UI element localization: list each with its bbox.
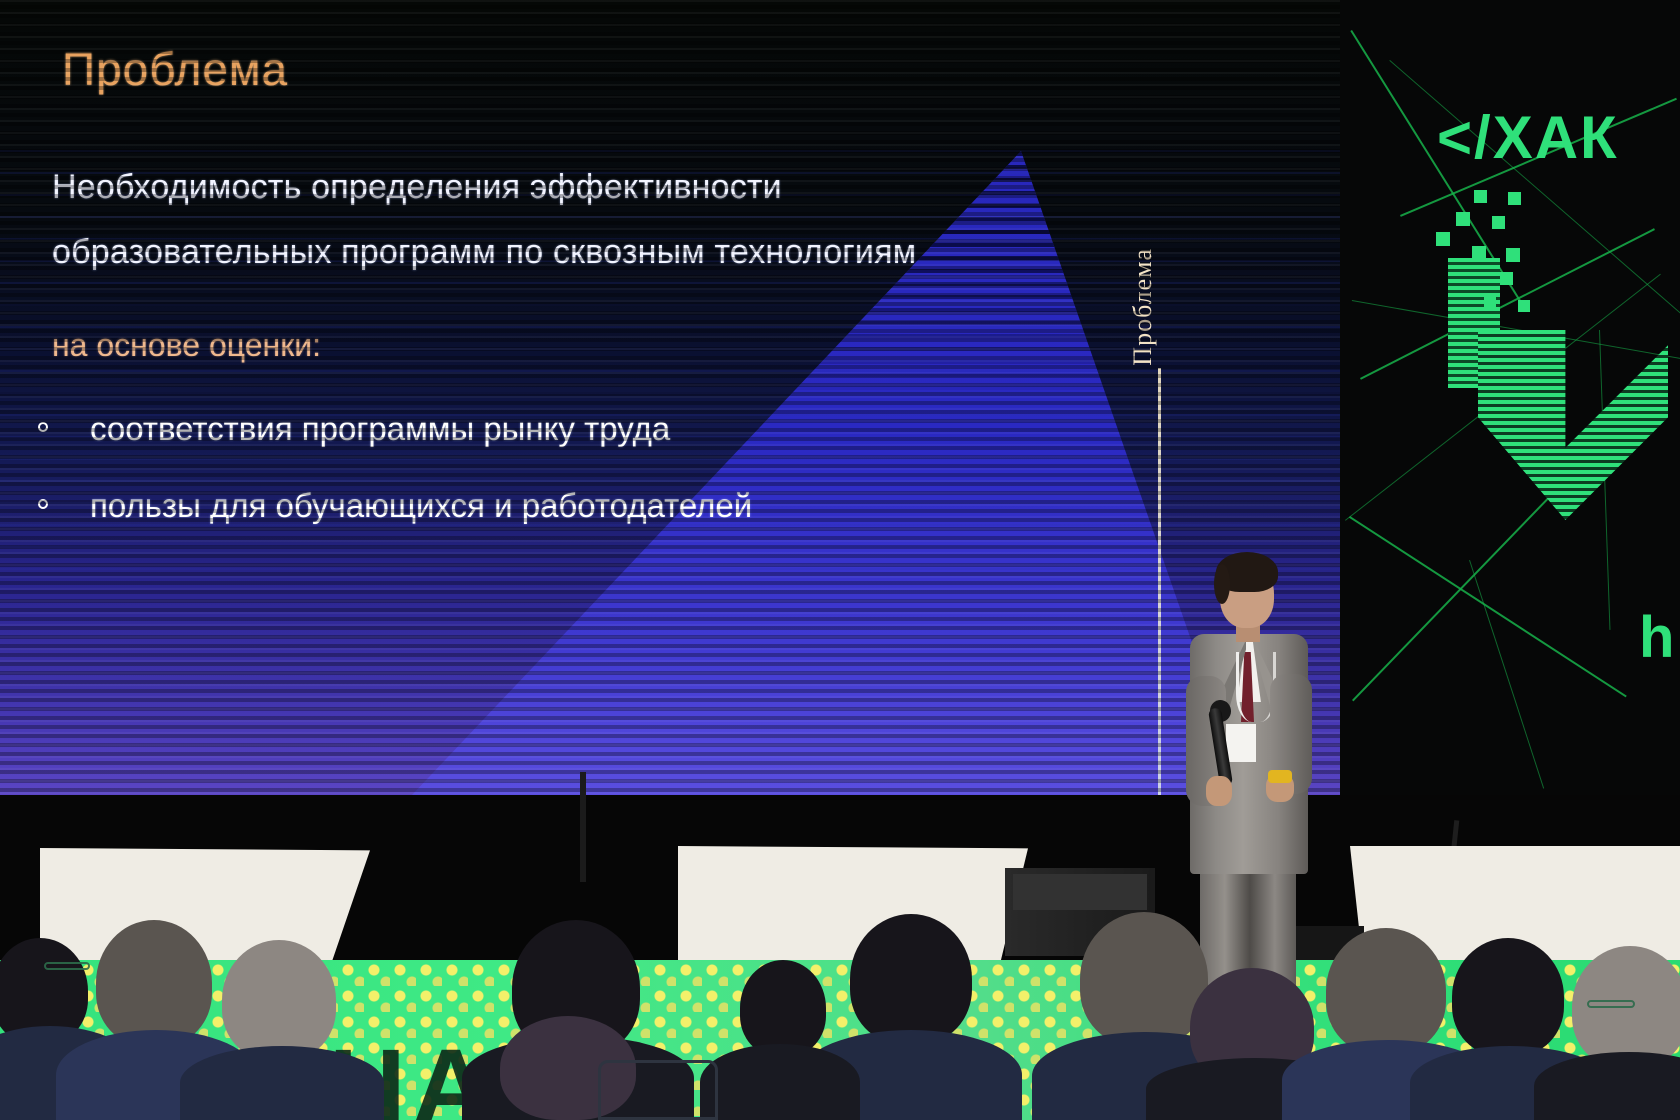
backdrop-green-line <box>1469 560 1544 789</box>
audience-shoulders <box>700 1044 860 1120</box>
slide-pyramid-steps <box>0 0 1340 795</box>
hackathon-logo-chevron <box>1478 330 1668 520</box>
presenter-figure <box>1178 548 1318 948</box>
bullet-circle-icon <box>38 422 48 432</box>
audience-head <box>850 914 972 1044</box>
pyramid-vertical-rule <box>1158 368 1161 795</box>
audience-head <box>1080 912 1208 1046</box>
audience-chair-back <box>598 1060 718 1120</box>
hackathon-logo-pixel <box>1500 272 1513 285</box>
slide-bullet-text: пользы для обучающихся и работодателей <box>90 487 752 524</box>
backdrop-green-line <box>1349 516 1627 697</box>
stage-white-panel <box>40 848 370 966</box>
hackathon-logo-pixel <box>1506 248 1520 262</box>
hackathon-logo-pixel <box>1484 296 1496 308</box>
slide-bullet-item: пользы для обучающихся и работодателей <box>38 487 752 525</box>
hackathon-logo-pixel <box>1492 216 1505 229</box>
audience-head <box>740 960 826 1056</box>
audience-glasses-icon <box>44 962 90 970</box>
audience-head <box>222 940 336 1060</box>
presenter-badge <box>1226 724 1256 762</box>
audience-head <box>96 920 212 1046</box>
pyramid-vertical-label: Проблема <box>1128 248 1158 366</box>
hackathon-logo-pixel <box>1436 232 1450 246</box>
stage-white-panel <box>678 846 1028 964</box>
slide-body-line-2: образовательных программ по сквозным тех… <box>52 233 916 272</box>
backdrop-green-line <box>1389 60 1680 336</box>
hackathon-logo-pixel <box>1508 192 1521 205</box>
slide-title: Проблема <box>62 42 288 96</box>
hackathon-logo-pixel <box>1456 212 1470 226</box>
presenter-hand-left <box>1206 776 1232 806</box>
hackathon-logo-pixel <box>1472 246 1486 260</box>
slide-subheading: на основе оценки: <box>52 327 321 364</box>
slide-body-line-1: Необходимость определения эффективности <box>52 168 782 207</box>
stage-truss-pole <box>580 772 586 882</box>
audience-glasses-icon <box>1587 1000 1635 1008</box>
stage-scene: </ХАК h Проблема Необходимость определен… <box>0 0 1680 1120</box>
audience-shoulders <box>180 1046 384 1120</box>
hackathon-logo-pixel <box>1474 190 1487 203</box>
audience-head <box>1452 938 1564 1056</box>
hackathon-logo-pixel <box>1518 300 1530 312</box>
bullet-circle-icon <box>38 499 48 509</box>
hackathon-letter-mark: h <box>1639 604 1674 671</box>
presenter-hair-side <box>1214 564 1230 604</box>
audience-head <box>1326 928 1446 1054</box>
slide-bullet-text: соответствия программы рынку труда <box>90 410 670 447</box>
projection-screen: Проблема Необходимость определения эффек… <box>0 0 1340 795</box>
presentation-clicker <box>1268 770 1292 783</box>
hackathon-wordmark: </ХАК <box>1437 103 1619 172</box>
slide-bullet-item: соответствия программы рынку труда <box>38 410 670 448</box>
